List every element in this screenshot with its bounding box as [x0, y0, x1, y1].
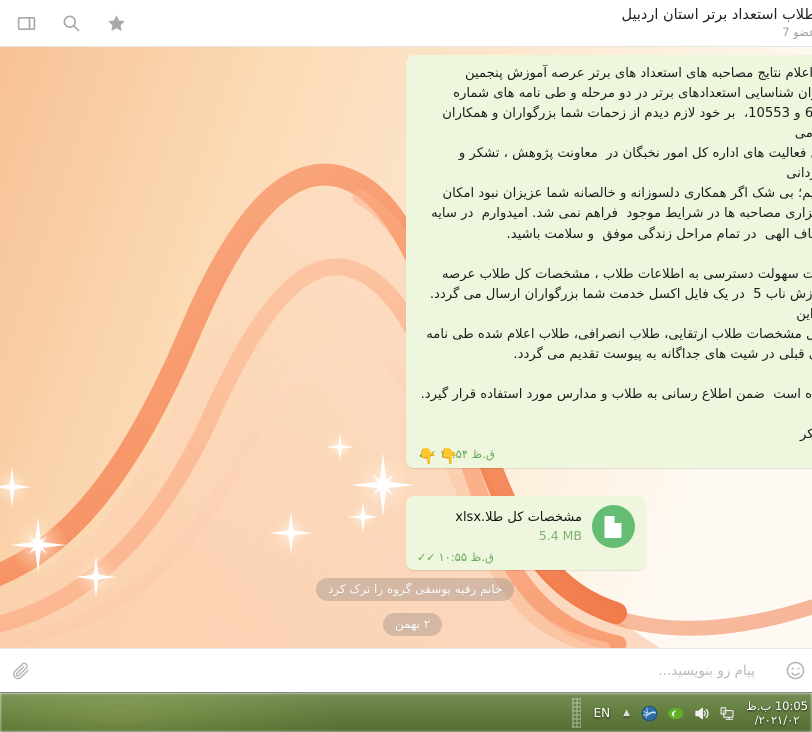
message-text: رو اعلام نتایج مصاحبه های استعداد های بر… [418, 64, 812, 445]
message-emoji: 👇👇 [418, 449, 461, 464]
paperclip-icon[interactable] [6, 656, 36, 686]
nvidia-icon[interactable] [664, 701, 686, 725]
chat-header: طلاب استعداد برتر استان اردبیل عضو 7 [0, 0, 812, 47]
taskbar-clock[interactable]: 10:05 ب.ظ ۲۰۲۱/۰۲/ [740, 699, 812, 728]
document-icon[interactable] [592, 505, 635, 548]
message-timestamp: ق.ظ ۱۰:۵۵ [438, 550, 493, 564]
show-hidden-icons-arrow[interactable]: ▲ [617, 708, 636, 718]
page-title: طلاب استعداد برتر استان اردبیل [622, 7, 812, 24]
windows-taskbar: EN ▲ [0, 692, 812, 732]
file-meta: مشخصات کل طلا.xlsx 5.4 MB [455, 510, 582, 543]
chat-member-count: عضو 7 [622, 26, 812, 39]
tray-drag-handle[interactable] [572, 698, 581, 728]
chat-header-actions [0, 11, 128, 35]
smiley-icon[interactable] [778, 654, 812, 688]
display-icon[interactable] [716, 701, 738, 725]
message-bubble-announcement[interactable]: رو اعلام نتایج مصاحبه های استعداد های بر… [406, 55, 812, 468]
file-name: مشخصات کل طلا.xlsx [455, 510, 582, 525]
sidebar-toggle-icon[interactable] [14, 11, 38, 35]
file-size: 5.4 MB [455, 528, 582, 543]
clock-date: ۲۰۲۱/۰۲/ [746, 713, 808, 727]
star-icon[interactable] [104, 11, 128, 35]
message-list: رو اعلام نتایج مصاحبه های استعداد های بر… [0, 47, 812, 648]
file-attachment[interactable]: مشخصات کل طلا.xlsx 5.4 MB [417, 505, 635, 548]
read-tick-icon: ✓✓ [417, 552, 435, 563]
system-tray: EN ▲ [572, 693, 812, 732]
telegram-desktop-window: طلاب استعداد برتر استان اردبیل عضو 7 [0, 0, 812, 732]
message-bubble-file[interactable]: مشخصات کل طلا.xlsx 5.4 MB ✓✓ ق.ظ ۱۰:۵۵ [406, 496, 646, 570]
message-meta: ✓✓ ق.ظ ۱۰:۵۴ [418, 447, 812, 464]
chat-scroll-area[interactable]: رو اعلام نتایج مصاحبه های استعداد های بر… [0, 47, 812, 648]
chat-header-info[interactable]: طلاب استعداد برتر استان اردبیل عضو 7 [622, 7, 812, 39]
network-icon[interactable] [638, 701, 660, 725]
search-icon[interactable] [59, 11, 83, 35]
file-message-meta: ✓✓ ق.ظ ۱۰:۵۵ [417, 550, 635, 567]
language-indicator[interactable]: EN [587, 706, 618, 720]
volume-icon[interactable] [690, 701, 712, 725]
service-message-left-group: خانم رقیه یوسفی گروه را ترک کرد [316, 578, 514, 601]
message-input[interactable] [36, 663, 769, 679]
date-separator-pill: ۲ بهمن [383, 613, 442, 636]
message-composer [0, 648, 812, 692]
clock-time: 10:05 ب.ظ [746, 699, 808, 713]
